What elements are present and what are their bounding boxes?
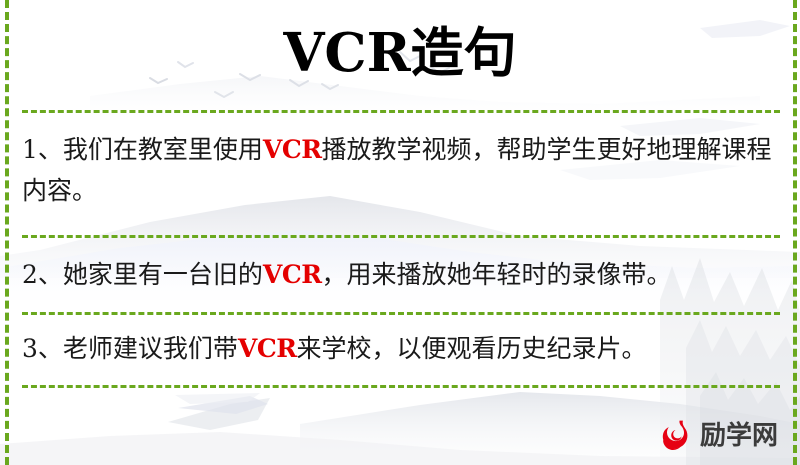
sentence-2-index: 2、 <box>22 260 63 289</box>
sentence-2-keyword: VCR <box>263 260 322 289</box>
frame-border-left <box>5 0 9 465</box>
divider-title <box>22 110 780 113</box>
divider-sentence-2 <box>22 312 780 315</box>
frame-border-right <box>793 0 797 465</box>
sentence-2-before: 她家里有一台旧的 <box>63 260 263 289</box>
divider-sentence-1 <box>22 235 780 238</box>
sentence-1-before: 我们在教室里使用 <box>63 135 263 164</box>
sentence-3-keyword: VCR <box>238 334 297 363</box>
sentence-3-before: 老师建议我们带 <box>63 334 238 363</box>
sentence-item-2: 2、她家里有一台旧的VCR，用来播放她年轻时的录像带。 <box>22 254 782 295</box>
sentence-3-after: 来学校，以便观看历史纪录片。 <box>297 334 647 363</box>
sentence-3-index: 3、 <box>22 334 63 363</box>
divider-sentence-3 <box>22 385 780 388</box>
page-title: VCR造句 <box>0 21 800 85</box>
sentence-item-3: 3、老师建议我们带VCR来学校，以便观看历史纪录片。 <box>22 328 782 369</box>
sentence-item-1: 1、我们在教室里使用VCR播放教学视频，帮助学生更好地理解课程内容。 <box>22 129 782 211</box>
sentence-2-after: ，用来播放她年轻时的录像带。 <box>322 260 672 289</box>
site-watermark: 励学网 <box>655 414 778 458</box>
sentence-1-keyword: VCR <box>263 135 322 164</box>
watermark-label: 励学网 <box>700 421 778 451</box>
swirl-flame-icon <box>655 416 695 456</box>
worksheet-content: VCR造句 1、我们在教室里使用VCR播放教学视频，帮助学生更好地理解课程内容。… <box>0 0 800 465</box>
worksheet-page: VCR造句 1、我们在教室里使用VCR播放教学视频，帮助学生更好地理解课程内容。… <box>0 0 800 465</box>
sentence-1-index: 1、 <box>22 135 63 164</box>
